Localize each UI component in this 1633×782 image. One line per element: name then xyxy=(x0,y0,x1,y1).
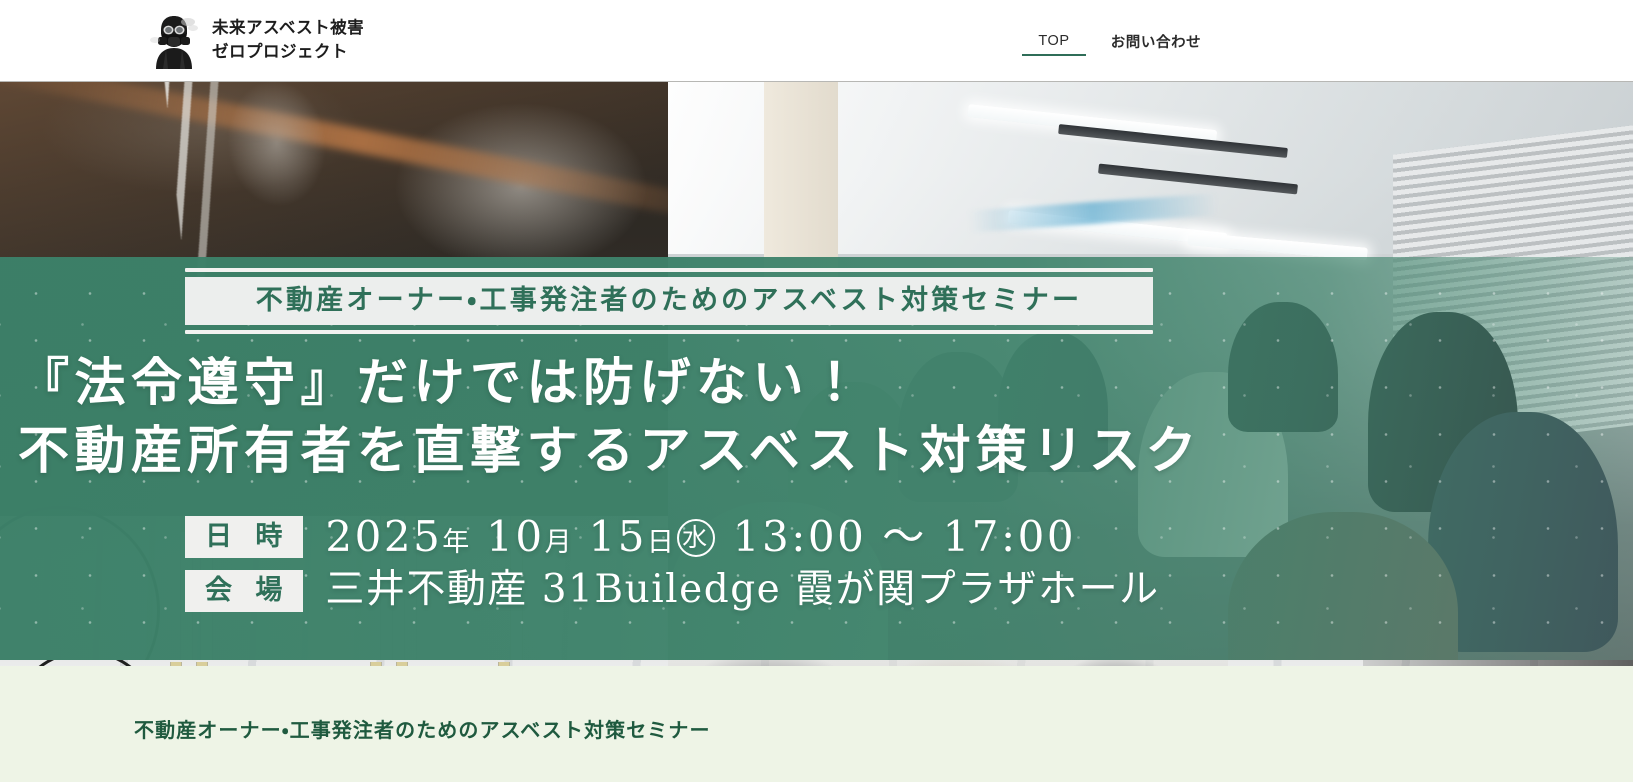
respirator-person-icon xyxy=(148,13,200,69)
event-venue-row: 会 場 三井不動産 31Builedge 霞が関プラザホール xyxy=(185,569,1160,612)
event-day: 15 xyxy=(588,512,646,561)
day-unit: 日 xyxy=(647,527,675,558)
venue-value: 三井不動産 31Builedge 霞が関プラザホール xyxy=(325,569,1159,612)
event-datetime-row: 日 時 2025年 10月 15日水 13:00 〜 17:00 xyxy=(185,514,1160,560)
time-separator: 〜 xyxy=(882,512,927,561)
section-heading: 不動産オーナー・工事発注者のためのアスベスト対策セミナー xyxy=(134,714,711,743)
main-navigation: TOP お問い合わせ xyxy=(1022,0,1226,82)
event-time-end: 17:00 xyxy=(943,512,1077,561)
hero-event-details: 日 時 2025年 10月 15日水 13:00 〜 17:00 会 場 三井不… xyxy=(185,514,1160,621)
nav-item-contact[interactable]: お問い合わせ xyxy=(1086,0,1226,82)
brand-logo-link[interactable]: 未来アスベスト被害 ゼロプロジェクト xyxy=(148,13,364,69)
subtitle-rule-top xyxy=(185,268,1153,272)
subtitle-rule-bottom xyxy=(185,330,1153,334)
nav-item-top[interactable]: TOP xyxy=(1022,0,1086,82)
hero-banner: 不動産オーナー・工事発注者のためのアスベスト対策セミナー 『法令遵守』だけでは防… xyxy=(0,82,1633,666)
event-time-start: 13:00 xyxy=(733,512,867,561)
year-unit: 年 xyxy=(442,527,470,558)
hero-headline: 『法令遵守』だけでは防げない！ 不動産所有者を直撃するアスベスト対策リスク xyxy=(18,350,1202,486)
datetime-value: 2025年 10月 15日水 13:00 〜 17:00 xyxy=(325,514,1076,560)
datetime-label: 日 時 xyxy=(185,516,303,558)
hero-content: 不動産オーナー・工事発注者のためのアスベスト対策セミナー 『法令遵守』だけでは防… xyxy=(0,257,1633,661)
month-unit: 月 xyxy=(545,527,573,558)
hero-subtitle-banner: 不動産オーナー・工事発注者のためのアスベスト対策セミナー xyxy=(185,268,1153,334)
event-month: 10 xyxy=(486,512,544,561)
brand-name: 未来アスベスト被害 ゼロプロジェクト xyxy=(212,17,364,64)
event-weekday: 水 xyxy=(677,519,715,557)
seminar-section: 不動産オーナー・工事発注者のためのアスベスト対策セミナー xyxy=(0,666,1633,782)
site-header: 未来アスベスト被害 ゼロプロジェクト TOP お問い合わせ xyxy=(0,0,1633,82)
hero-subtitle: 不動産オーナー・工事発注者のためのアスベスト対策セミナー xyxy=(185,277,1153,325)
event-year: 2025 xyxy=(325,512,442,561)
venue-label: 会 場 xyxy=(185,570,303,612)
